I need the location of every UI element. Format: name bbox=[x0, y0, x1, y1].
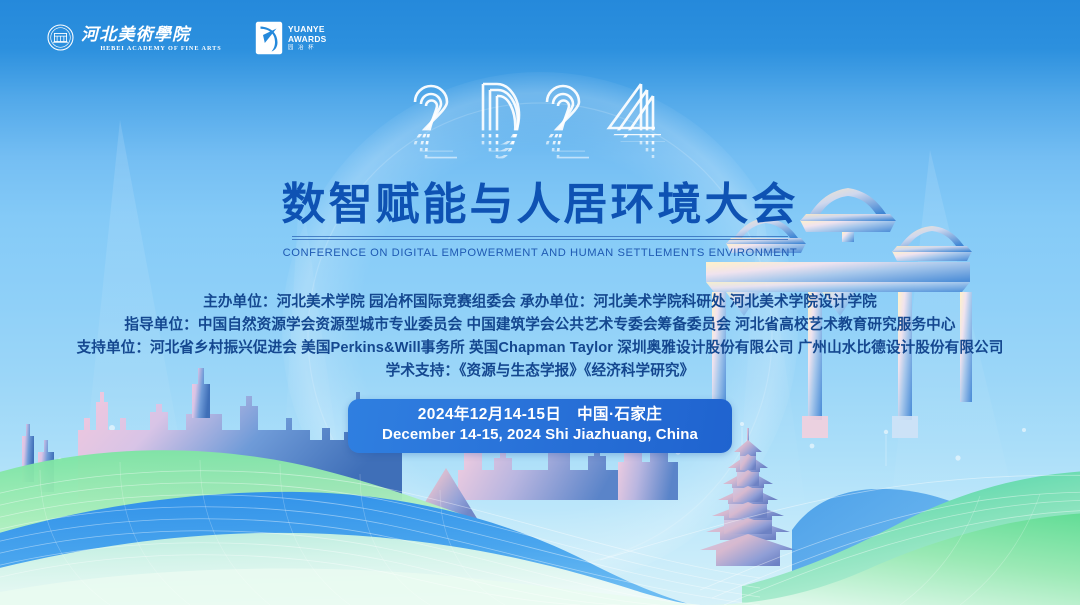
date-location-badge-wrap: 2024年12月14-15日 中国·石家庄 December 14-15, 20… bbox=[0, 399, 1080, 453]
yuanye-awards-logo[interactable]: YUANYE AWARDS 园 冶 杯 bbox=[255, 21, 327, 55]
organizer-line: 主办单位：河北美术学院 园冶杯国际竞赛组委会 承办单位：河北美术学院科研处 河北… bbox=[0, 291, 1080, 314]
academy-name-cn-calligraphy: 河北美術學院 bbox=[81, 23, 241, 45]
title-divider bbox=[292, 236, 788, 241]
date-location-cn: 2024年12月14-15日 中国·石家庄 bbox=[382, 405, 698, 425]
yuanye-name-cn: 园 冶 杯 bbox=[288, 46, 327, 51]
title-block: 数智赋能与人居环境大会 CONFERENCE ON DIGITAL EMPOWE… bbox=[0, 180, 1080, 259]
hebei-academy-logo[interactable]: 河北美術學院 HEBEI ACADEMY OF FINE ARTS bbox=[47, 23, 241, 52]
circular-seal-icon bbox=[47, 24, 74, 51]
page-title: 数智赋能与人居环境大会 bbox=[0, 180, 1080, 229]
conference-poster: 河北美術學院 HEBEI ACADEMY OF FINE ARTS YUANYE… bbox=[0, 0, 1080, 605]
yuanye-line2: AWARDS bbox=[288, 35, 327, 44]
organizer-line: 指导单位：中国自然资源学会资源型城市专业委员会 中国建筑学会公共艺术专委会筹备委… bbox=[0, 314, 1080, 337]
svg-text:河北美術學院: 河北美術學院 bbox=[81, 25, 192, 44]
organizer-line: 学术支持：《资源与生态学报》《经济科学研究》 bbox=[0, 360, 1080, 383]
organizer-line: 支持单位：河北省乡村振兴促进会 美国Perkins&Will事务所 英国Chap… bbox=[0, 337, 1080, 360]
yuanye-line1: YUANYE bbox=[288, 25, 327, 34]
academy-name-en: HEBEI ACADEMY OF FINE ARTS bbox=[100, 46, 221, 52]
yuanye-y-mark-icon bbox=[255, 21, 283, 55]
year-graphic bbox=[0, 78, 1080, 170]
organizer-list: 主办单位：河北美术学院 园冶杯国际竞赛组委会 承办单位：河北美术学院科研处 河北… bbox=[0, 291, 1080, 383]
year-2024-striped bbox=[409, 78, 671, 170]
date-location-badge: 2024年12月14-15日 中国·石家庄 December 14-15, 20… bbox=[348, 399, 732, 453]
page-subtitle: CONFERENCE ON DIGITAL EMPOWERMENT AND HU… bbox=[0, 247, 1080, 259]
date-location-en: December 14-15, 2024 Shi Jiazhuang, Chin… bbox=[382, 425, 698, 445]
header-logos: 河北美術學院 HEBEI ACADEMY OF FINE ARTS YUANYE… bbox=[47, 21, 327, 55]
